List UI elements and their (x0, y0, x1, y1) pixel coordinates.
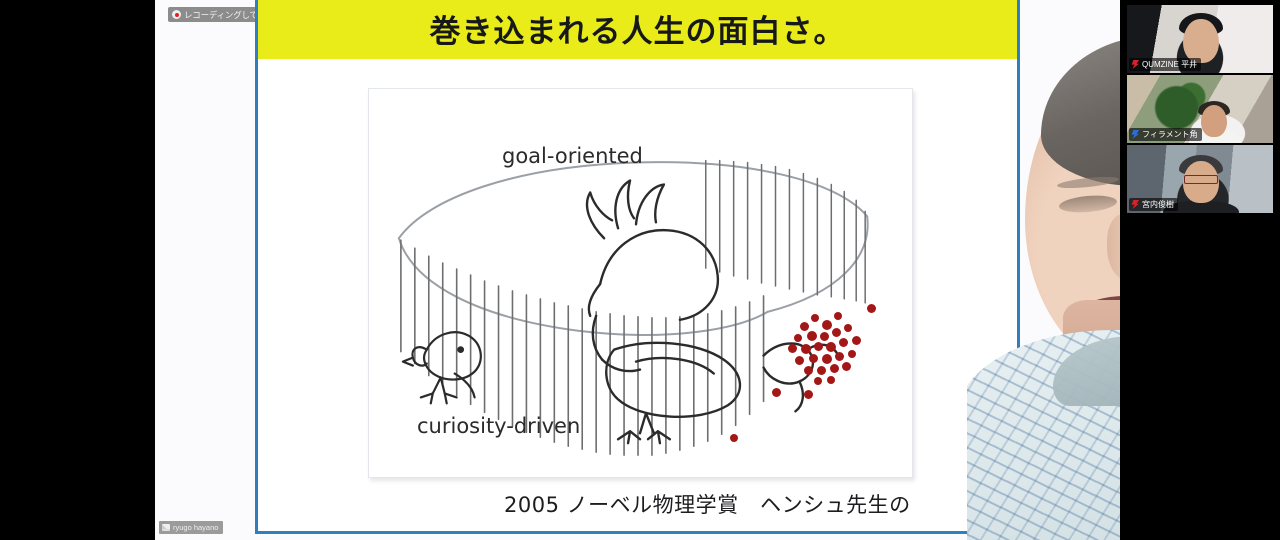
thumbnail-strip-filler (1120, 215, 1280, 540)
participant-tile[interactable]: QUMZINE 平井 (1127, 5, 1273, 73)
participant-name: 宮内俊樹 (1142, 199, 1174, 210)
qumzine-logo-icon (1131, 200, 1139, 209)
shared-desktop: レコーディングしています... ryugo hayano 巻き込まれる人生の面白… (155, 0, 1120, 540)
participant-name-badge: 宮内俊樹 (1129, 198, 1178, 211)
participant-name: QUMZINE 平井 (1142, 59, 1197, 70)
participant-tile[interactable]: 宮内俊樹 (1127, 145, 1273, 213)
participant-thumbnail-strip: QUMZINE 平井 フィラメント角 宮内俊樹 (1120, 0, 1280, 540)
glasses-icon (1184, 175, 1218, 184)
presentation-slide: 巻き込まれる人生の面白さ。 (258, 0, 1017, 531)
participant-name-badge: QUMZINE 平井 (1129, 58, 1201, 71)
label-goal-oriented: goal-oriented (502, 144, 643, 168)
watermark-label: ryugo hayano (173, 523, 218, 532)
left-black-gutter (0, 0, 155, 540)
slide-caption: 2005 ノーベル物理学賞 ヘンシュ先生の (504, 489, 911, 519)
qumzine-logo-icon (1131, 60, 1139, 69)
seed-cluster (764, 284, 913, 444)
slide-title-banner: 巻き込まれる人生の面白さ。 (258, 0, 1017, 59)
record-dot-icon (172, 10, 181, 19)
participant-face (1201, 105, 1227, 137)
watermark-badge: ryugo hayano (159, 521, 223, 534)
slide-title: 巻き込まれる人生の面白さ。 (430, 6, 846, 51)
screen-share-frame[interactable]: 巻き込まれる人生の面白さ。 (255, 0, 1020, 534)
participant-name: フィラメント角 (1142, 129, 1198, 140)
chart-icon (162, 524, 170, 531)
participant-name-badge: フィラメント角 (1129, 128, 1202, 141)
label-curiosity-driven: curiosity-driven (417, 414, 580, 438)
participant-tile[interactable]: フィラメント角 (1127, 75, 1273, 143)
illustration-card: goal-oriented curiosity-driven (368, 88, 913, 478)
meeting-screen: レコーディングしています... ryugo hayano 巻き込まれる人生の面白… (0, 0, 1280, 540)
participant-face (1183, 19, 1219, 63)
filament-logo-icon (1131, 130, 1139, 139)
